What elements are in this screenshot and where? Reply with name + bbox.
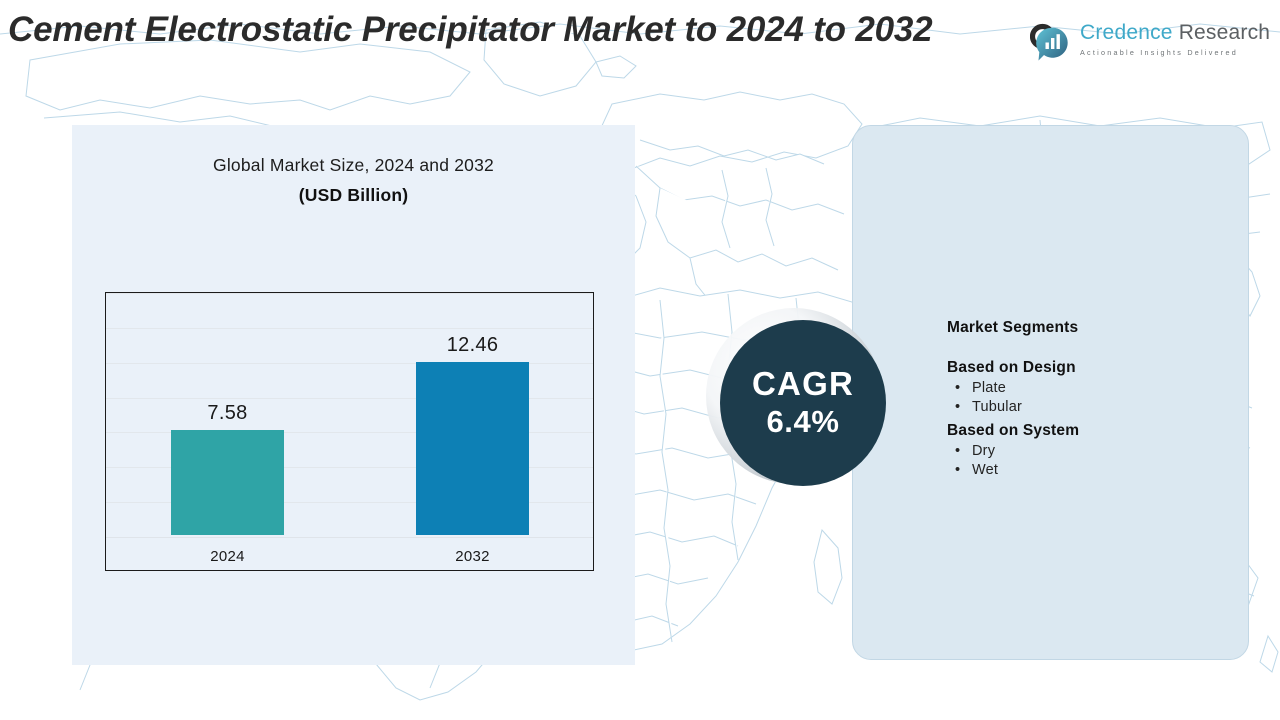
bar-category-label: 2024 (131, 548, 324, 565)
bar-value-label: 12.46 (376, 334, 569, 357)
bar-2032 (416, 362, 529, 535)
page-title: Cement Electrostatic Precipitator Market… (8, 8, 1038, 53)
cagr-value: 6.4% (766, 404, 839, 440)
credence-research-logo[interactable]: Credence Research Actionable Insights De… (1030, 20, 1260, 72)
cagr-circle: CAGR 6.4% (720, 320, 886, 486)
bar-category-label: 2032 (376, 548, 569, 565)
chart-subtitle: (USD Billion) (72, 185, 635, 206)
logo-text: Credence Research Actionable Insights De… (1080, 21, 1266, 57)
header: Cement Electrostatic Precipitator Market… (0, 0, 1280, 112)
chart-title: Global Market Size, 2024 and 2032 (72, 155, 635, 176)
bar-value-label: 7.58 (131, 402, 324, 425)
plot-area: 7.58202412.462032 (106, 293, 593, 570)
segment-group-heading: Based on System (947, 422, 1237, 440)
logo-tagline: Actionable Insights Delivered (1080, 48, 1266, 57)
cagr-badge: CAGR 6.4% (706, 308, 896, 494)
bullet-icon: • (955, 398, 960, 417)
bar-chart-circle-icon (1030, 22, 1076, 62)
bullet-icon: • (955, 461, 960, 480)
logo-name-research: Research (1173, 21, 1271, 44)
market-segments-panel: Market Segments Based on Design•Plate•Tu… (852, 125, 1249, 660)
segment-group: Based on Design•Plate•Tubular (947, 359, 1237, 418)
gridline (106, 293, 593, 294)
segments-content: Market Segments Based on Design•Plate•Tu… (947, 319, 1237, 480)
bullet-icon: • (955, 379, 960, 398)
segment-list-item: •Tubular (951, 398, 1237, 417)
infographic-canvas: Cement Electrostatic Precipitator Market… (0, 0, 1280, 720)
segment-list: •Plate•Tubular (947, 379, 1237, 418)
chart-panel: Global Market Size, 2024 and 2032 (USD B… (72, 125, 635, 665)
segment-list-item: •Plate (951, 379, 1237, 398)
segment-group-heading: Based on Design (947, 359, 1237, 377)
logo-company-name: Credence Research (1080, 21, 1266, 45)
logo-name-credence: Credence (1080, 21, 1173, 44)
segment-group: Based on System•Dry•Wet (947, 422, 1237, 481)
segments-title: Market Segments (947, 319, 1237, 337)
bar-2024 (171, 430, 284, 535)
segment-list-item: •Wet (951, 461, 1237, 480)
cagr-label: CAGR (752, 367, 854, 402)
segment-list: •Dry•Wet (947, 442, 1237, 481)
segment-groups: Based on Design•Plate•TubularBased on Sy… (947, 359, 1237, 480)
gridline (106, 328, 593, 329)
segment-list-item: •Dry (951, 442, 1237, 461)
bullet-icon: • (955, 442, 960, 461)
axis-line (106, 537, 593, 538)
bar-chart: 7.58202412.462032 (105, 292, 594, 571)
